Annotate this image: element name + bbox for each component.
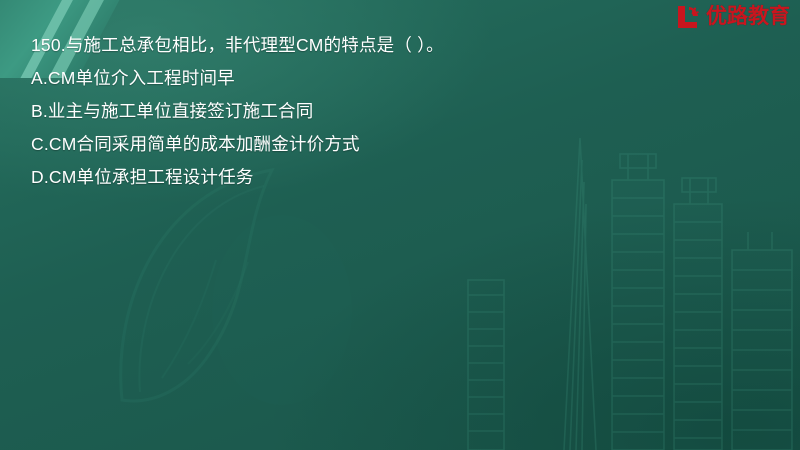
question-stem: 150.与施工总承包相比，非代理型CM的特点是（ ）。: [31, 29, 761, 62]
brand-logo-text: 优路教育: [706, 5, 790, 29]
option-b[interactable]: B.业主与施工单位直接签订施工合同: [31, 95, 761, 128]
option-c[interactable]: C.CM合同采用简单的成本加酬金计价方式: [31, 128, 761, 161]
brand-logo: 优路教育: [675, 4, 790, 30]
slide-canvas: 优路教育 150.与施工总承包相比，非代理型CM的特点是（ ）。 A.CM单位介…: [0, 0, 800, 450]
question-block: 150.与施工总承包相比，非代理型CM的特点是（ ）。 A.CM单位介入工程时间…: [31, 29, 761, 194]
youlu-l-mark-icon: [675, 5, 701, 29]
option-d[interactable]: D.CM单位承担工程设计任务: [31, 161, 761, 194]
option-a[interactable]: A.CM单位介入工程时间早: [31, 62, 761, 95]
